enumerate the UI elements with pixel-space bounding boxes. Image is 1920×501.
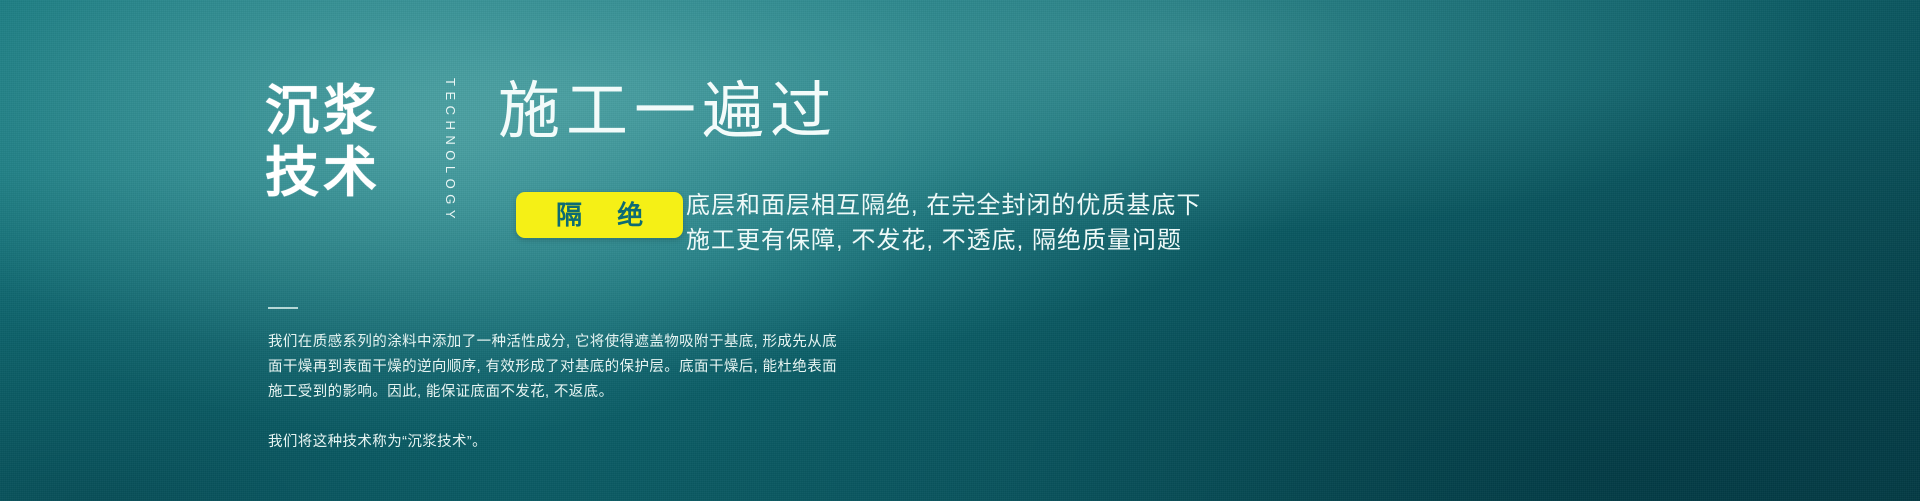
promo-banner: 沉浆 技术 TECHNOLOGY 施工一遍过 隔 绝 底层和面层相互隔绝, 在完… [0, 0, 1920, 501]
brand-logo: 沉浆 技术 [265, 80, 440, 210]
banner-left-content: 沉浆 技术 TECHNOLOGY 施工一遍过 隔 绝 底层和面层相互隔绝, 在完… [0, 0, 1200, 501]
technology-vertical-label: TECHNOLOGY [443, 78, 458, 198]
logo-line-2: 技术 [265, 142, 440, 204]
body-paragraph-2: 我们将这种技术称为“沉浆技术”。 [268, 430, 848, 455]
page-title: 施工一遍过 [498, 76, 838, 146]
divider [268, 307, 298, 309]
status-badge: 隔 绝 [516, 192, 683, 238]
body-paragraph-1: 我们在质感系列的涂料中添加了一种活性成分, 它将使得遮盖物吸附于基底, 形成先从… [268, 330, 848, 405]
logo-line-1: 沉浆 [265, 80, 440, 142]
banner-right-content [1100, 0, 1920, 501]
body-copy: 我们在质感系列的涂料中添加了一种活性成分, 它将使得遮盖物吸附于基底, 形成先从… [268, 330, 848, 455]
